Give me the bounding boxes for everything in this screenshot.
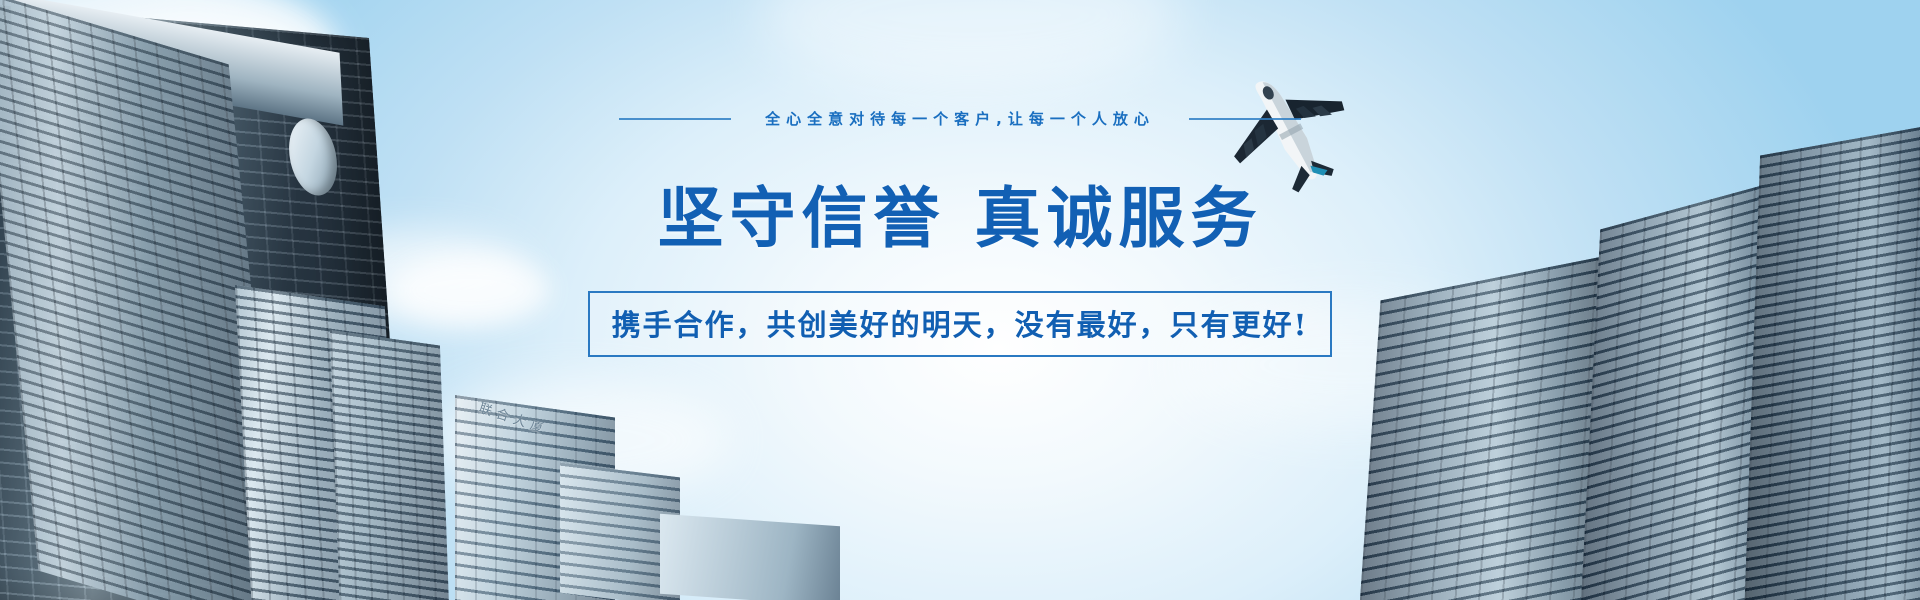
banner-tagline: 全心全意对待每一个客户,让每一个人放心 bbox=[765, 108, 1155, 129]
banner-subtitle: 携手合作，共创美好的明天，没有最好，只有更好! bbox=[612, 302, 1309, 344]
tagline-row: 全心全意对待每一个客户,让每一个人放心 bbox=[619, 108, 1301, 129]
hero-banner: 联合大厦 bbox=[0, 0, 1920, 600]
horizontal-rule-icon-left bbox=[619, 118, 731, 120]
banner-content: 全心全意对待每一个客户,让每一个人放心 坚守信誉 真诚服务 携手合作，共创美好的… bbox=[0, 0, 1920, 600]
horizontal-rule-icon-right bbox=[1189, 118, 1301, 120]
banner-headline: 坚守信誉 真诚服务 bbox=[658, 165, 1263, 261]
subtitle-box: 携手合作，共创美好的明天，没有最好，只有更好! bbox=[588, 291, 1333, 357]
